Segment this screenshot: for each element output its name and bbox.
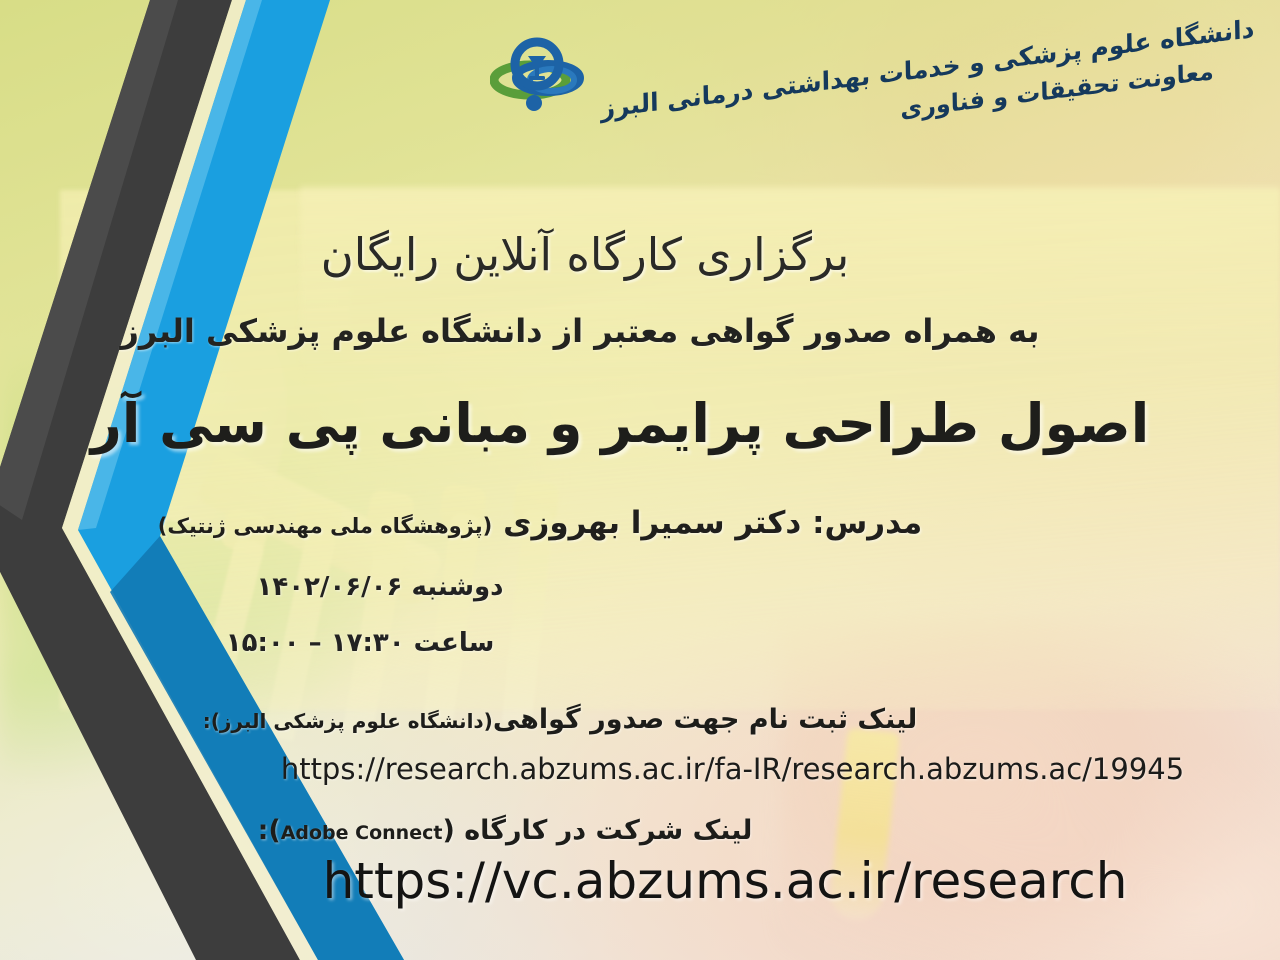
instructor-name: مدرس: دکتر سمیرا بهروزی (503, 505, 922, 541)
registration-label-main: لینک ثبت نام جهت صدور گواهی (493, 704, 917, 735)
instructor-affiliation: (پژوهشگاه ملی مهندسی ژنتیک) (158, 514, 492, 538)
announcement-subheadline: به همراه صدور گواهی معتبر از دانشگاه علو… (0, 312, 1280, 350)
instructor-line: مدرس: دکتر سمیرا بهروزی (پژوهشگاه ملی مه… (0, 505, 1280, 541)
registration-label: لینک ثبت نام جهت صدور گواهی(دانشگاه علوم… (0, 704, 1280, 735)
poster-canvas: دانشگاه علوم پزشکی و خدمات بهداشتی درمان… (0, 0, 1280, 960)
join-label-suffix: ): (258, 815, 281, 846)
poster-content: برگزاری کارگاه آنلاین رایگان به همراه صد… (0, 0, 1280, 960)
workshop-title: اصول طراحی پرایمر و مبانی پی سی آر (0, 392, 1280, 455)
join-label: لینک شرکت در کارگاه (Adobe Connect): (0, 815, 1280, 846)
join-url-link[interactable]: https://vc.abzums.ac.ir/research (0, 852, 1280, 910)
join-label-prefix: لینک شرکت در کارگاه ( (442, 815, 752, 846)
join-platform-name: Adobe Connect (281, 822, 443, 844)
workshop-time: ساعت ۱۷:۳۰ – ۱۵:۰۰ (0, 628, 1280, 658)
announcement-headline: برگزاری کارگاه آنلاین رایگان (0, 228, 1280, 281)
registration-url-link[interactable]: https://research.abzums.ac.ir/fa-IR/rese… (0, 752, 1280, 786)
workshop-date: دوشنبه ۱۴۰۲/۰۶/۰۶ (0, 572, 1280, 602)
registration-label-sub: (دانشگاه علوم پزشکی البرز): (203, 709, 493, 733)
